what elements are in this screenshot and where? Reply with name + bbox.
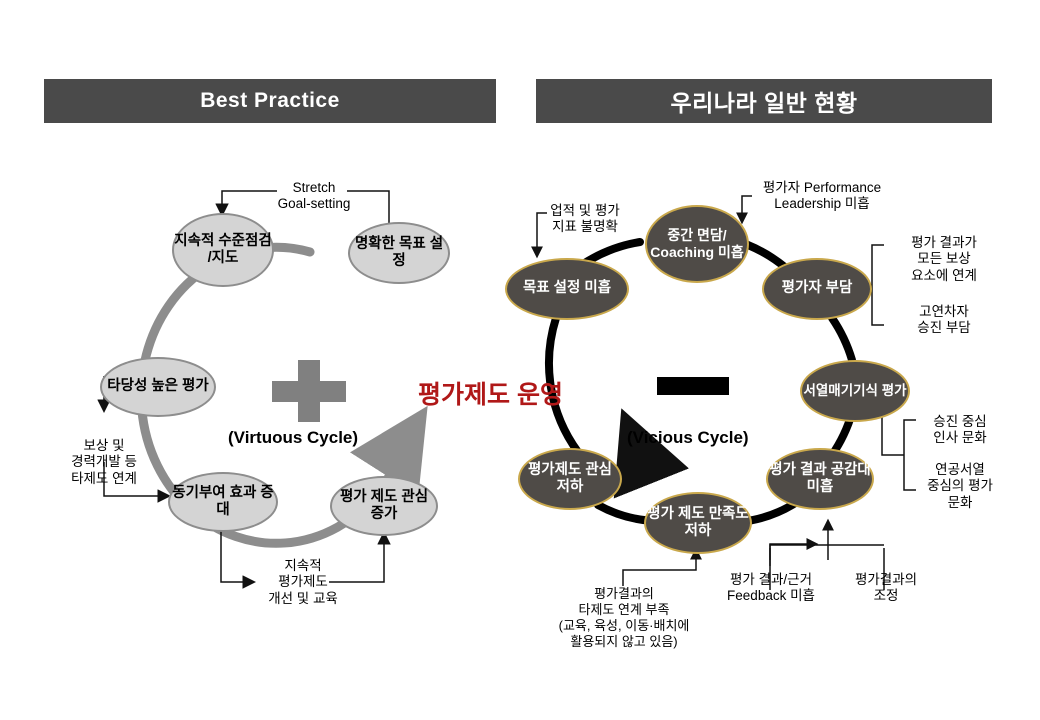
node-rater-burden[interactable]: 평가자 부담 [762, 258, 872, 320]
annotation-promotion-culture: 승진 중심 인사 문화 [912, 414, 1008, 447]
node-interest-low[interactable]: 평가제도 관심 저하 [518, 448, 622, 510]
node-interest-increase[interactable]: 평가 제도 관심 증가 [330, 476, 438, 536]
annotation-result-adjust: 평가결과의 조정 [836, 572, 936, 605]
vicious-cycle-label: (Vicious Cycle) [627, 428, 749, 448]
minus-sign-icon [657, 377, 729, 395]
plus-sign-icon [272, 360, 346, 422]
slide-canvas: Best Practice 우리나라 일반 현황 [0, 0, 1040, 720]
node-coaching-lack[interactable]: 중간 면담/ Coaching 미흡 [645, 205, 749, 283]
annotation-reward-linkage: 평가 결과가 모든 보상 요소에 연계 [892, 235, 996, 284]
annotation-unclear-indicators: 업적 및 평가 지표 불명확 [531, 203, 639, 236]
node-ranking-style[interactable]: 서열매기기식 평가 [800, 360, 910, 422]
annotation-linkage-lack: 평가결과의 타제도 연계 부족 (교육, 육성, 이동·배치에 활용되지 않고 … [499, 586, 749, 649]
annotation-senior-promotion: 고연차자 승진 부담 [892, 304, 996, 337]
node-result-consensus[interactable]: 평가 결과 공감대 미흡 [766, 448, 874, 510]
node-valid-evaluation[interactable]: 타당성 높은 평가 [100, 357, 216, 417]
node-satisfaction-low[interactable]: 평가 제도 만족도 저하 [644, 492, 752, 554]
center-red-title: 평가제도 운영 [418, 375, 563, 411]
node-goal-setting[interactable]: 명확한 목표 설정 [348, 222, 450, 284]
annotation-stretch-goal: Stretch Goal-setting [271, 180, 357, 213]
node-goal-setting-lack[interactable]: 목표 설정 미흡 [505, 258, 629, 320]
virtuous-cycle-label: (Virtuous Cycle) [228, 428, 358, 448]
node-motivation-effect[interactable]: 동기부여 효과 증대 [168, 472, 278, 532]
node-continuous-check[interactable]: 지속적 수준점검 /지도 [172, 213, 274, 287]
annotation-reward-career: 보상 및 경력개발 등 타제도 연계 [36, 438, 172, 487]
annotation-seniority-culture: 연공서열 중심의 평가 문화 [910, 462, 1010, 511]
annotation-rater-performance: 평가자 Performance Leadership 미흡 [738, 180, 906, 213]
annotation-improve-edu: 지속적 평가제도 개선 및 교육 [252, 558, 354, 607]
